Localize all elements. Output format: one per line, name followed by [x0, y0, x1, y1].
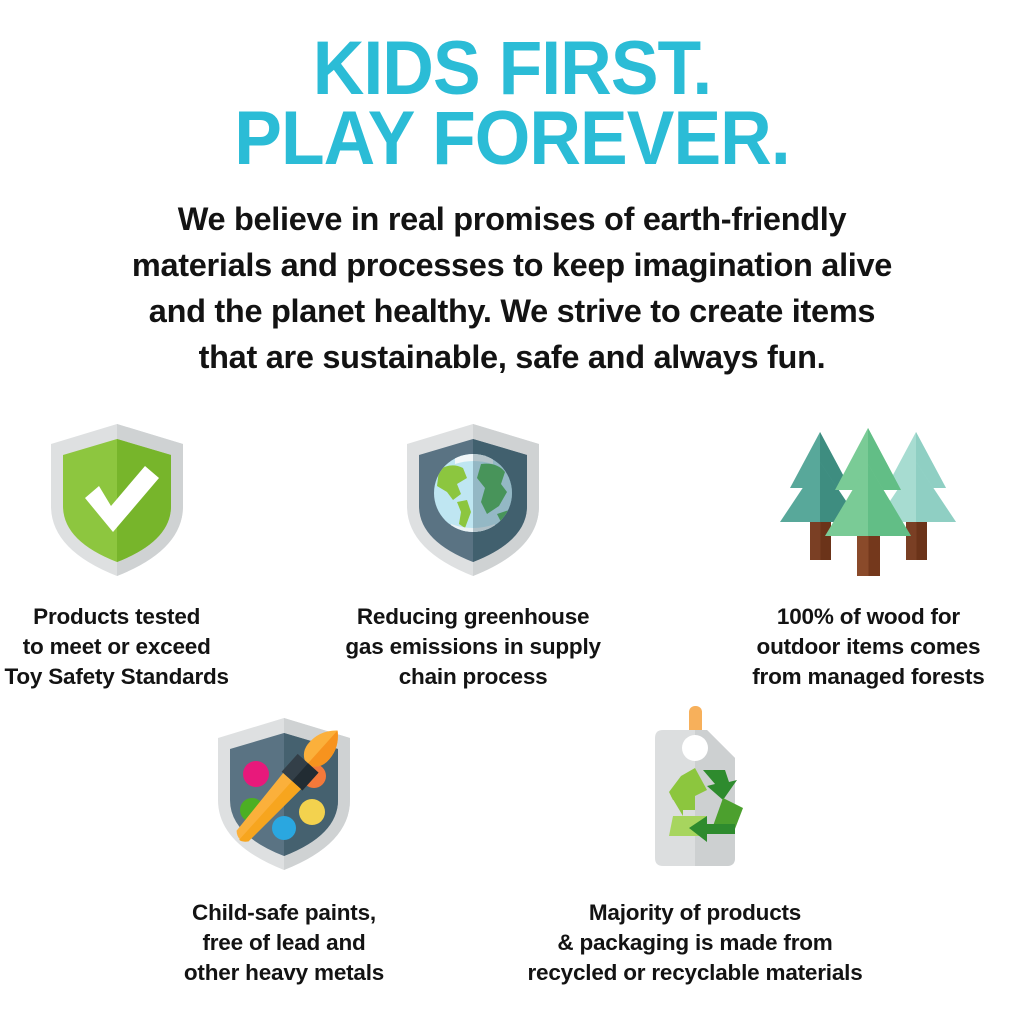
caption-line-3: Toy Safety Standards	[4, 662, 228, 692]
intro-paragraph: We believe in real promises of earth-fri…	[47, 196, 977, 381]
shield-paint-art	[200, 710, 368, 878]
shield-check-icon	[33, 414, 201, 582]
intro-line-4: that are sustainable, safe and always fu…	[47, 334, 977, 380]
feature-item-emissions: Reducing greenhouse gas emissions in sup…	[345, 414, 600, 692]
intro-line-3: and the planet healthy. We strive to cre…	[47, 288, 977, 334]
caption-line-1: Child-safe paints,	[184, 898, 384, 928]
shield-globe-icon	[389, 414, 557, 582]
paint-dot-blue	[272, 816, 296, 840]
feature-caption-recycled: Majority of products & packaging is made…	[527, 898, 862, 988]
intro-line-1: We believe in real promises of earth-fri…	[47, 196, 977, 242]
feature-item-wood: 100% of wood for outdoor items comes fro…	[713, 414, 1024, 692]
caption-line-1: Majority of products	[527, 898, 862, 928]
caption-line-2: to meet or exceed	[4, 632, 228, 662]
shield-paint-palette-icon	[200, 700, 368, 878]
feature-item-paints: Child-safe paints, free of lead and othe…	[149, 710, 419, 988]
feature-caption-wood: 100% of wood for outdoor items comes fro…	[752, 602, 984, 692]
caption-line-1: Products tested	[4, 602, 228, 632]
recycle-tag-icon	[611, 700, 779, 878]
feature-row-1: Products tested to meet or exceed Toy Sa…	[0, 414, 1024, 692]
feature-item-recycled: Majority of products & packaging is made…	[515, 710, 875, 988]
trees-icon	[758, 414, 978, 582]
caption-line-2: outdoor items comes	[752, 632, 984, 662]
caption-line-3: recycled or recyclable materials	[527, 958, 862, 988]
feature-item-toy-safety: Products tested to meet or exceed Toy Sa…	[0, 414, 233, 692]
paint-dot-yellow	[299, 799, 325, 825]
headline-line-1: KIDS FIRST.	[31, 34, 994, 104]
caption-line-3: chain process	[345, 662, 600, 692]
caption-line-2: gas emissions in supply	[345, 632, 600, 662]
feature-caption-paints: Child-safe paints, free of lead and othe…	[184, 898, 384, 988]
page-title: KIDS FIRST. PLAY FOREVER.	[0, 0, 1024, 174]
caption-line-2: & packaging is made from	[527, 928, 862, 958]
paint-dot-pink	[243, 761, 269, 787]
caption-line-2: free of lead and	[184, 928, 384, 958]
trees-art	[758, 414, 978, 582]
caption-line-1: 100% of wood for	[752, 602, 984, 632]
caption-line-1: Reducing greenhouse	[345, 602, 600, 632]
shield-check-art	[33, 414, 201, 582]
intro-line-2: materials and processes to keep imaginat…	[47, 242, 977, 288]
caption-line-3: other heavy metals	[184, 958, 384, 988]
feature-caption-toy-safety: Products tested to meet or exceed Toy Sa…	[4, 602, 228, 692]
caption-line-3: from managed forests	[752, 662, 984, 692]
shield-globe-art	[389, 414, 557, 582]
recycle-tag-art	[611, 710, 779, 878]
feature-row-2: Child-safe paints, free of lead and othe…	[0, 710, 1024, 988]
infographic-page: KIDS FIRST. PLAY FOREVER. We believe in …	[0, 0, 1024, 1024]
feature-caption-emissions: Reducing greenhouse gas emissions in sup…	[345, 602, 600, 692]
headline-line-2: PLAY FOREVER.	[31, 104, 994, 174]
